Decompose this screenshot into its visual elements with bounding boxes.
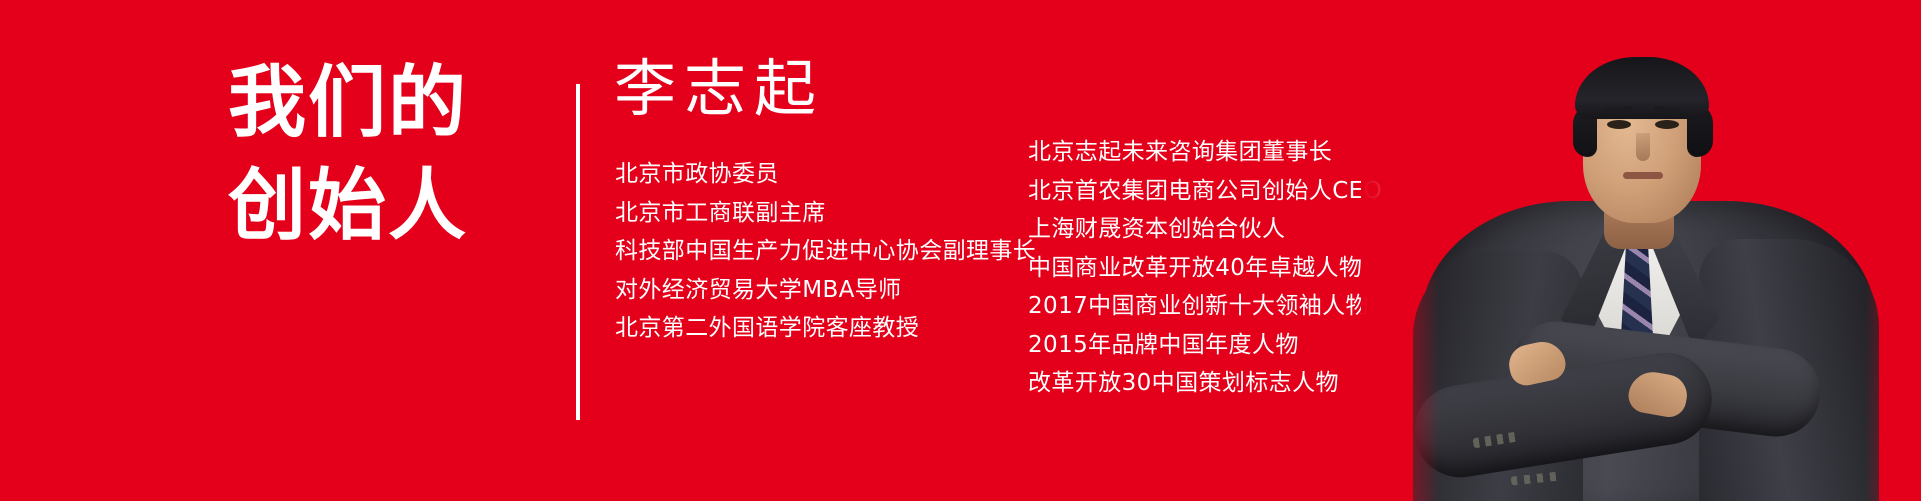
credential-item: 改革开放30中国策划标志人物	[1028, 364, 1382, 403]
credential-item: 北京第二外国语学院客座教授	[615, 309, 1036, 348]
credential-item: 对外经济贸易大学MBA导师	[615, 271, 1036, 310]
page-title: 我们的 创始人	[228, 52, 528, 258]
founder-name: 李志起	[614, 58, 824, 120]
portrait-hair	[1575, 57, 1709, 119]
credential-item: 2015年品牌中国年度人物	[1028, 326, 1382, 365]
founder-portrait-photo	[1361, 0, 1921, 501]
credential-item: 北京志起未来咨询集团董事长	[1028, 133, 1382, 172]
credentials-right-column: 北京志起未来咨询集团董事长 北京首农集团电商公司创始人CEO 上海财晟资本创始合…	[1028, 133, 1382, 403]
credential-item: 北京首农集团电商公司创始人CEO	[1028, 172, 1382, 211]
credential-item: 上海财晟资本创始合伙人	[1028, 210, 1382, 249]
portrait-nose	[1636, 133, 1650, 161]
credential-item: 科技部中国生产力促进中心协会副理事长	[615, 232, 1036, 271]
credential-item: 北京市工商联副主席	[615, 194, 1036, 233]
founder-banner: 我们的 创始人 李志起 北京市政协委员 北京市工商联副主席 科技部中国生产力促进…	[0, 0, 1921, 501]
credentials-left-column: 北京市政协委员 北京市工商联副主席 科技部中国生产力促进中心协会副理事长 对外经…	[615, 155, 1036, 348]
portrait-eye-left	[1607, 120, 1631, 129]
credential-item: 北京市政协委员	[615, 155, 1036, 194]
page-title-line-1: 我们的	[228, 52, 528, 155]
portrait-mouth	[1623, 172, 1663, 179]
credential-item: 中国商业改革开放40年卓越人物	[1028, 249, 1382, 288]
vertical-divider	[576, 84, 580, 420]
credential-item: 2017中国商业创新十大领袖人物	[1028, 287, 1382, 326]
portrait-eye-right	[1655, 120, 1679, 129]
page-title-line-2: 创始人	[228, 155, 528, 258]
